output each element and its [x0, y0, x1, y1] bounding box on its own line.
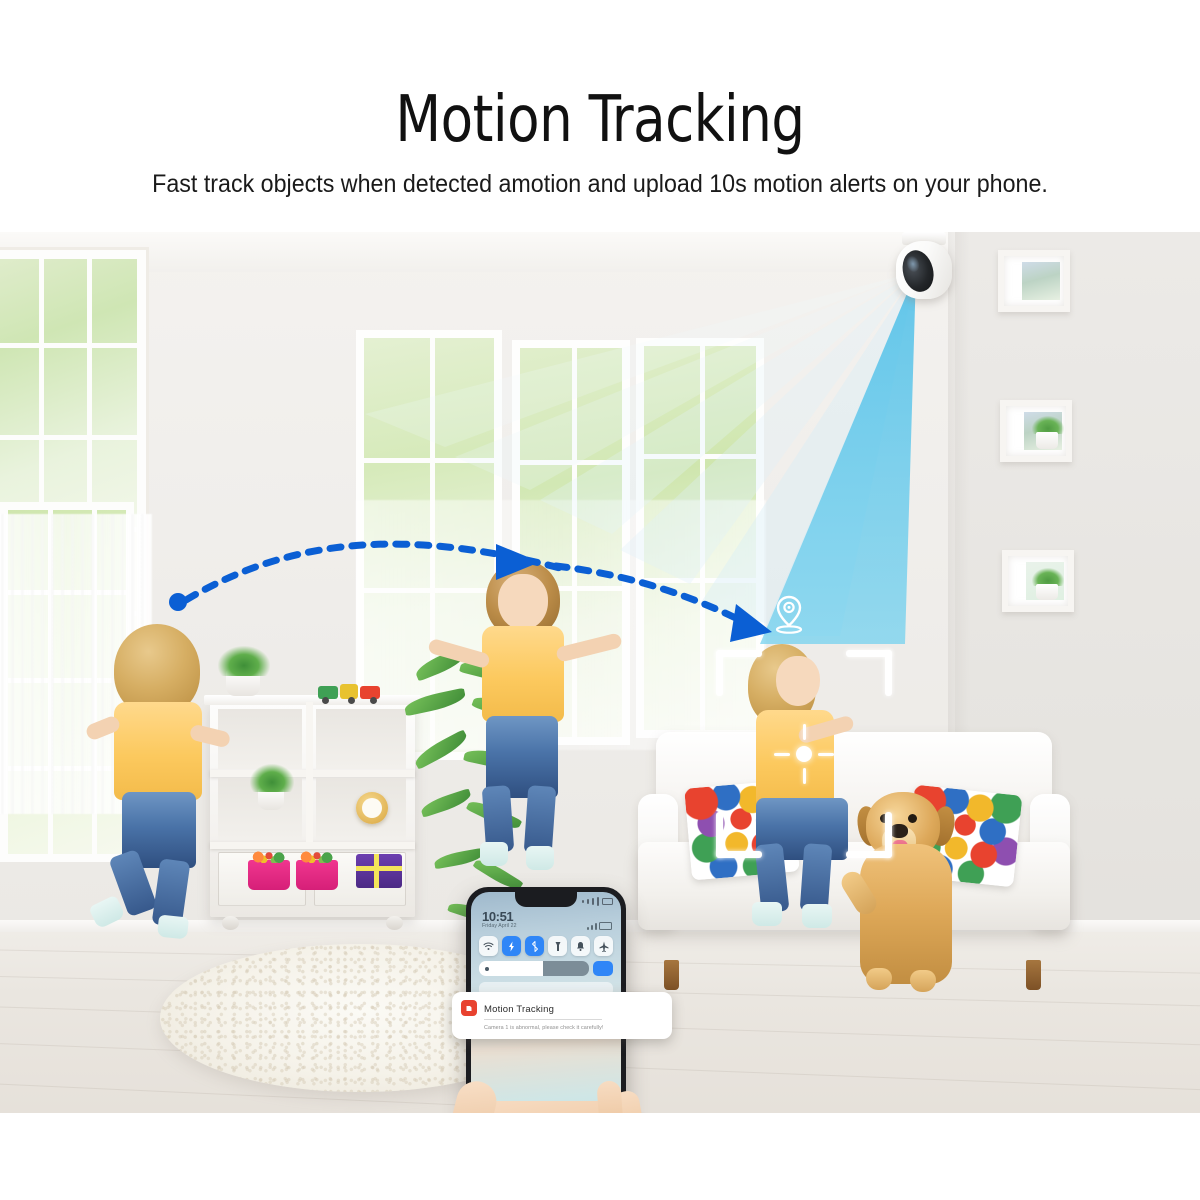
airplane-icon	[599, 941, 609, 952]
notification-text: Motion Tracking Camera 1 is abnormal, pl…	[484, 999, 663, 1031]
focus-reticle-icon	[774, 724, 834, 784]
bell-icon	[576, 941, 585, 952]
page-title: Motion Tracking	[48, 88, 1152, 152]
ceiling-security-camera	[896, 232, 952, 302]
brightness-row[interactable]	[479, 961, 613, 976]
phone-notch	[515, 892, 577, 907]
smartphone[interactable]: 10:51 Friday April 22	[466, 887, 634, 1113]
hand-holding-phone	[448, 1075, 653, 1113]
quick-settings-toggles[interactable]	[479, 936, 613, 956]
subject-lock-bracket	[716, 650, 892, 858]
app-glyph-icon	[465, 1004, 474, 1013]
camera-app-icon	[461, 1000, 477, 1016]
product-feature-card: Motion Tracking Fast track objects when …	[0, 0, 1200, 1200]
toggle-airplane-mode[interactable]	[594, 936, 613, 956]
toggle-wifi[interactable]	[479, 936, 498, 956]
child-jumping-center	[432, 560, 628, 890]
toggle-mobile-data[interactable]	[502, 936, 521, 956]
toggle-do-not-disturb[interactable]	[571, 936, 590, 956]
location-pin-icon	[767, 592, 811, 636]
toggle-bluetooth[interactable]	[525, 936, 544, 956]
toggle-auto-rotate[interactable]	[593, 961, 613, 976]
flashlight-icon	[554, 941, 562, 952]
wifi-icon	[483, 942, 494, 951]
cellular-icon	[507, 941, 516, 952]
signal-indicator-row	[587, 922, 612, 930]
shelf-clock	[356, 792, 388, 824]
fruit-basket-right	[296, 860, 338, 890]
toggle-flashlight[interactable]	[548, 936, 567, 956]
notification-card[interactable]: Motion Tracking Camera 1 is abnormal, pl…	[452, 992, 672, 1039]
lock-screen-date: Friday April 22	[482, 923, 517, 929]
page-subtitle: Fast track objects when detected amotion…	[42, 172, 1158, 197]
child-running-left	[78, 624, 258, 934]
footer-whitespace	[0, 1113, 1200, 1200]
status-bar-icons	[582, 897, 613, 906]
toy-train	[318, 680, 384, 702]
bluetooth-icon	[531, 941, 539, 952]
notification-title: Motion Tracking	[484, 1004, 602, 1020]
brightness-slider[interactable]	[479, 961, 589, 976]
header: Motion Tracking Fast track objects when …	[0, 0, 1200, 232]
notification-body: Camera 1 is abnormal, please check it ca…	[484, 1025, 663, 1031]
lock-screen-time: 10:51	[482, 909, 513, 924]
gift-box-toy	[356, 854, 402, 888]
scene-photo: 10:51 Friday April 22	[0, 232, 1200, 1113]
